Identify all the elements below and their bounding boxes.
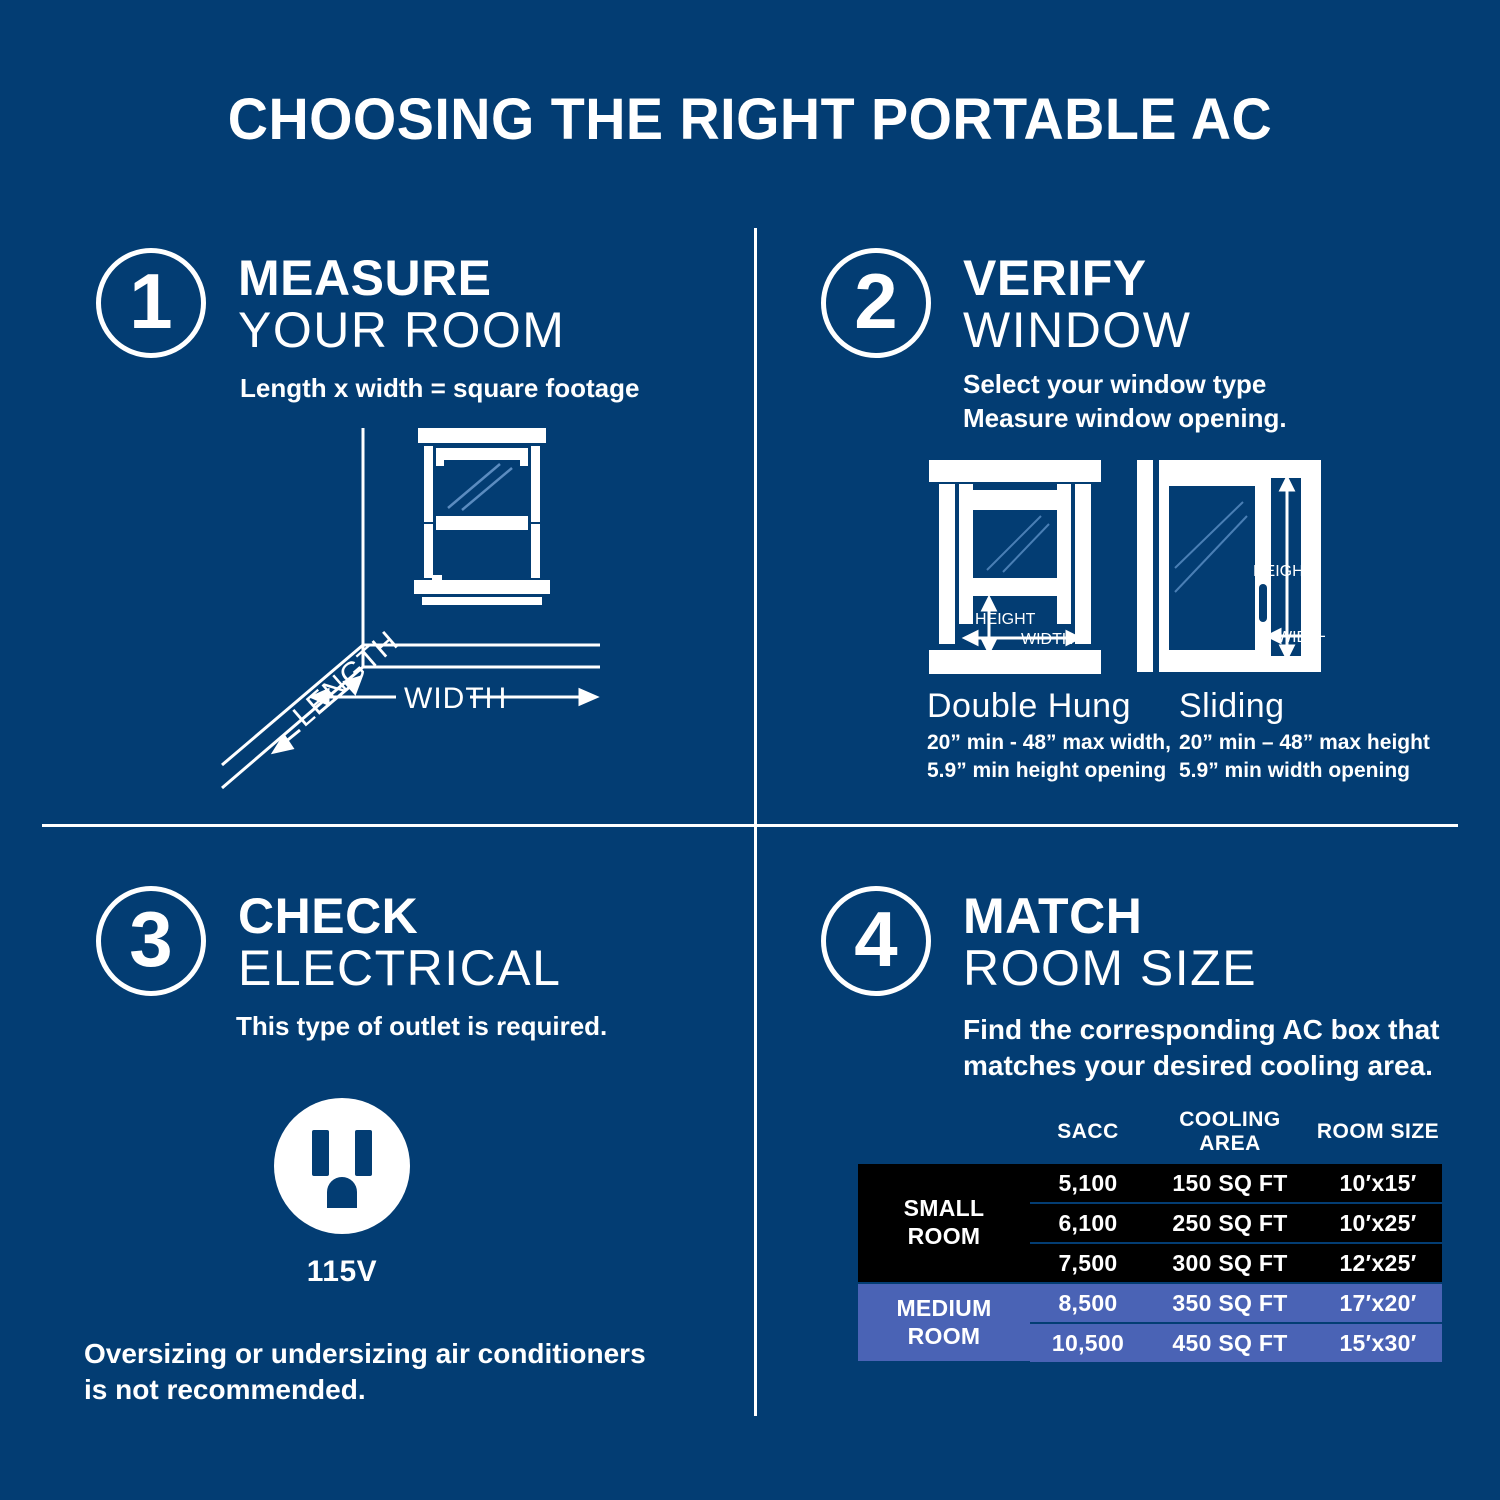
table-header-row: SACC COOLING AREA ROOM SIZE <box>858 1108 1442 1164</box>
cell-room-size: 10′x15′ <box>1314 1164 1442 1203</box>
step-4-subtitle-line2: matches your desired cooling area. <box>963 1048 1440 1084</box>
category-cell-small-room: SMALL ROOM <box>858 1164 1030 1283</box>
double-hung-window-diagram: HEIGHT WIDTH <box>925 458 1125 680</box>
step-1-subtitle: Length x width = square footage <box>240 372 639 404</box>
outlet-slot-left <box>312 1130 329 1176</box>
step-2-subtitle-line2: Measure window opening. <box>963 402 1287 436</box>
double-hung-height-label: HEIGHT <box>975 611 1036 628</box>
cell-room-size: 15′x30′ <box>1314 1323 1442 1362</box>
step-4-title-block: MATCH ROOM SIZE <box>963 886 1257 995</box>
category-small-line1: SMALL <box>859 1195 1029 1223</box>
step-4-subtitle-line1: Find the corresponding AC box that <box>963 1012 1440 1048</box>
window-illustration <box>414 428 550 605</box>
glass-reflection <box>987 516 1049 572</box>
page-title: CHOOSING THE RIGHT PORTABLE AC <box>30 86 1470 153</box>
cell-cooling-area: 250 SQ FT <box>1146 1203 1314 1243</box>
infographic-page: CHOOSING THE RIGHT PORTABLE AC 1 MEASURE… <box>0 0 1500 1500</box>
table-row: MEDIUM ROOM 8,500 350 SQ FT 17′x20′ <box>858 1283 1442 1323</box>
cell-sacc: 8,500 <box>1030 1283 1146 1323</box>
double-hung-caption: Double Hung 20” min - 48” max width, 5.9… <box>927 688 1177 785</box>
width-label: WIDTH <box>404 682 507 715</box>
double-hung-width-label: WIDTH <box>1021 631 1073 648</box>
step-2-subtitle: Select your window type Measure window o… <box>963 368 1287 436</box>
sliding-name: Sliding <box>1179 688 1439 725</box>
voltage-label: 115V <box>272 1255 412 1289</box>
sliding-spec-line2: 5.9” min width opening <box>1179 757 1439 785</box>
step-2-subtitle-line1: Select your window type <box>963 368 1287 402</box>
double-hung-name: Double Hung <box>927 688 1177 725</box>
step-3-subtitle: This type of outlet is required. <box>236 1010 607 1042</box>
category-cell-medium-room: MEDIUM ROOM <box>858 1283 1030 1362</box>
cell-cooling-area: 300 SQ FT <box>1146 1243 1314 1283</box>
step-1-title-block: MEASURE YOUR ROOM <box>238 248 565 357</box>
ac-sizing-table: SACC COOLING AREA ROOM SIZE SMALL ROOM 5… <box>858 1108 1442 1363</box>
sliding-height-label: HEIGHT <box>1253 563 1314 580</box>
double-hung-specs: 20” min - 48” max width, 5.9” min height… <box>927 729 1177 784</box>
outlet-ground-hole <box>327 1177 357 1208</box>
step-2-heading-light: WINDOW <box>963 304 1191 357</box>
cell-sacc: 7,500 <box>1030 1243 1146 1283</box>
sliding-caption: Sliding 20” min – 48” max height 5.9” mi… <box>1179 688 1439 785</box>
cell-sacc: 10,500 <box>1030 1323 1146 1362</box>
category-medium-line2: ROOM <box>859 1323 1029 1351</box>
outlet-block: 115V <box>272 1096 412 1289</box>
cell-cooling-area: 350 SQ FT <box>1146 1283 1314 1323</box>
step-4-number-badge: 4 <box>821 886 931 996</box>
step-3-heading-bold: CHECK <box>238 892 561 940</box>
power-outlet-icon <box>272 1096 412 1236</box>
sizing-warning-line2: is not recommended. <box>84 1372 704 1408</box>
sliding-width-label: WIDTH <box>1277 629 1325 646</box>
step-1-heading-light: YOUR ROOM <box>238 304 565 357</box>
step-2-panel: 2 VERIFY WINDOW Select your window type … <box>757 230 1500 824</box>
length-label: LENGTH <box>287 625 405 734</box>
outlet-slot-right <box>355 1130 372 1176</box>
cell-cooling-area: 450 SQ FT <box>1146 1323 1314 1362</box>
step-4-header: 4 MATCH ROOM SIZE <box>821 886 1257 996</box>
step-4-heading-light: ROOM SIZE <box>963 942 1257 995</box>
glass-reflection <box>1175 502 1247 592</box>
category-medium-line1: MEDIUM <box>859 1295 1029 1323</box>
step-2-heading-bold: VERIFY <box>963 254 1191 302</box>
sliding-spec-line1: 20” min – 48” max height <box>1179 729 1439 757</box>
cell-room-size: 12′x25′ <box>1314 1243 1442 1283</box>
table-header-room-size: ROOM SIZE <box>1314 1108 1442 1164</box>
step-4-subtitle: Find the corresponding AC box that match… <box>963 1012 1440 1085</box>
step-1-header: 1 MEASURE YOUR ROOM <box>96 248 565 358</box>
sliding-window-diagram: HEIGHT WIDTH <box>1135 458 1325 680</box>
step-1-number-badge: 1 <box>96 248 206 358</box>
step-3-number-badge: 3 <box>96 886 206 996</box>
sizing-warning-line1: Oversizing or undersizing air conditione… <box>84 1336 704 1372</box>
table-header-category <box>858 1108 1030 1164</box>
table-header-sacc: SACC <box>1030 1108 1146 1164</box>
category-small-line2: ROOM <box>859 1223 1029 1251</box>
glass-reflection <box>448 464 512 510</box>
double-hung-spec-line2: 5.9” min height opening <box>927 757 1177 785</box>
cell-room-size: 17′x20′ <box>1314 1283 1442 1323</box>
table-header-cooling-area: COOLING AREA <box>1146 1108 1314 1164</box>
step-1-heading-bold: MEASURE <box>238 254 565 302</box>
cell-sacc: 6,100 <box>1030 1203 1146 1243</box>
step-4-heading-bold: MATCH <box>963 892 1257 940</box>
horizontal-divider <box>42 824 1458 827</box>
cell-cooling-area: 150 SQ FT <box>1146 1164 1314 1203</box>
step-3-title-block: CHECK ELECTRICAL <box>238 886 561 995</box>
step-3-header: 3 CHECK ELECTRICAL <box>96 886 561 996</box>
step-2-number-badge: 2 <box>821 248 931 358</box>
sliding-specs: 20” min – 48” max height 5.9” min width … <box>1179 729 1439 784</box>
step-2-header: 2 VERIFY WINDOW <box>821 248 1191 358</box>
step-2-title-block: VERIFY WINDOW <box>963 248 1191 357</box>
step-3-heading-light: ELECTRICAL <box>238 942 561 995</box>
room-measurement-diagram: WIDTH LENGTH <box>200 420 660 820</box>
cell-room-size: 10′x25′ <box>1314 1203 1442 1243</box>
cell-sacc: 5,100 <box>1030 1164 1146 1203</box>
double-hung-spec-line1: 20” min - 48” max width, <box>927 729 1177 757</box>
sizing-warning: Oversizing or undersizing air conditione… <box>84 1336 704 1408</box>
step-1-panel: 1 MEASURE YOUR ROOM Length x width = squ… <box>0 230 754 824</box>
table-row: SMALL ROOM 5,100 150 SQ FT 10′x15′ <box>858 1164 1442 1203</box>
